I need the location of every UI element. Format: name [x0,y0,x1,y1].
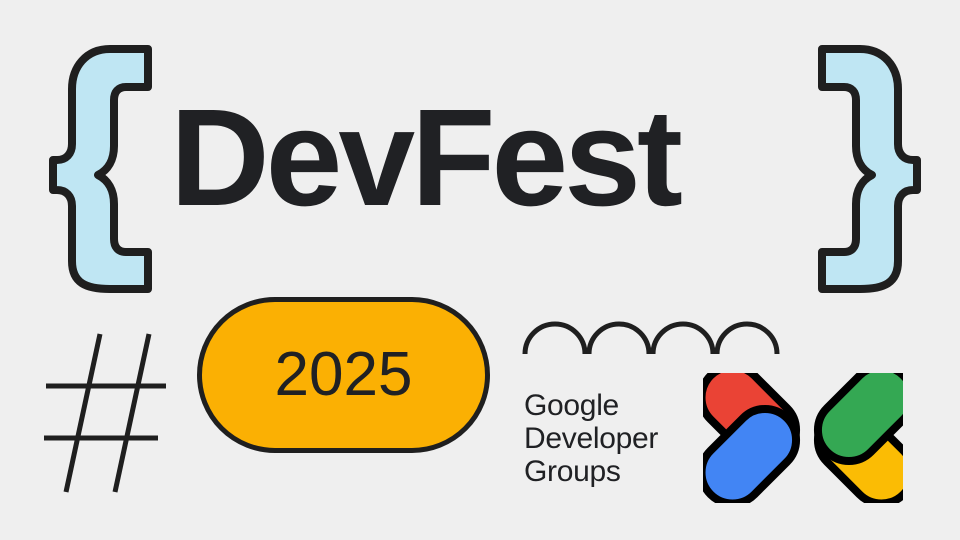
curly-brace-right-icon [810,44,922,299]
devfest-wordmark: DevFest [170,78,790,238]
year-badge-label: 2025 [275,344,413,406]
gdg-wordmark: Google Developer Groups [524,389,658,488]
hash-icon [44,328,174,503]
devfest-poster: DevFest 2025 Google Developer [0,0,960,540]
gdg-wordmark-line-3: Groups [524,455,658,488]
gdg-logo-mark [703,373,903,508]
arches-squiggle-icon [521,296,781,363]
gdg-wordmark-line-1: Google [524,389,658,422]
gdg-wordmark-line-2: Developer [524,422,658,455]
year-badge: 2025 [197,297,490,453]
curly-brace-left-icon [48,44,160,299]
